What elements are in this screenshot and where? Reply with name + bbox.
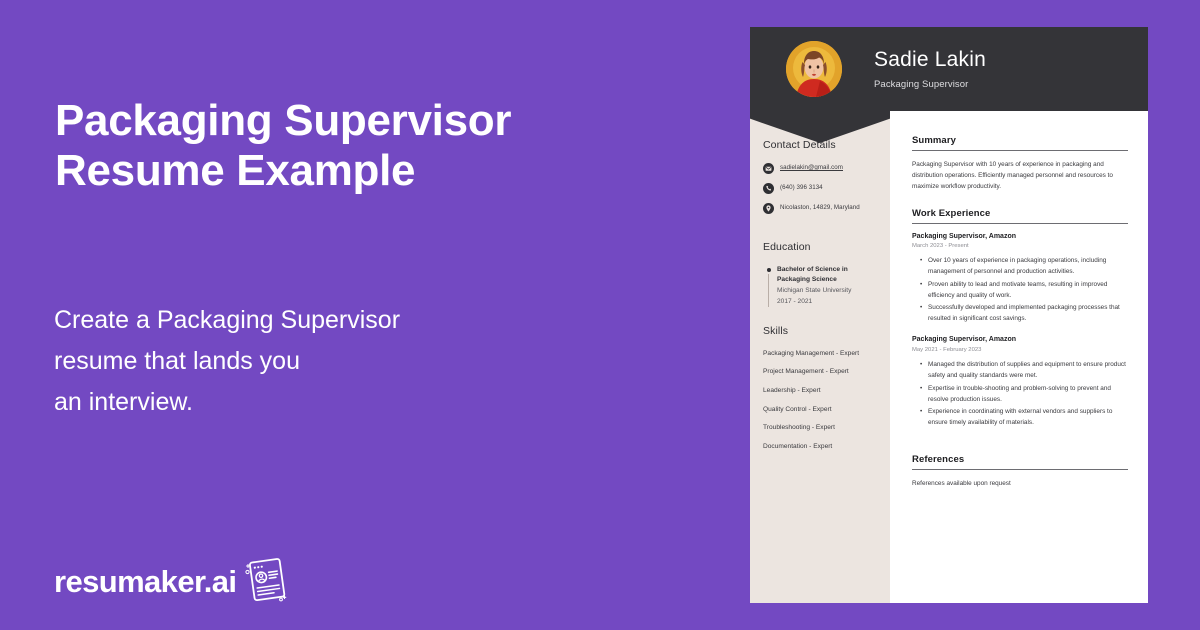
contact-email-value[interactable]: sadielakin@gmail.com xyxy=(780,164,843,172)
skill-item: Documentation - Expert xyxy=(763,442,876,452)
main-spacer-1 xyxy=(912,193,1128,208)
education-text: Bachelor of Science in Packaging Science… xyxy=(774,265,851,307)
logo-wordmark: resumaker.ai xyxy=(54,566,236,597)
summary-text: Packaging Supervisor with 10 years of ex… xyxy=(912,159,1128,193)
contact-item-email[interactable]: sadielakin@gmail.com xyxy=(763,163,876,174)
main-spacer-2 xyxy=(912,439,1128,454)
location-pin-icon xyxy=(763,203,774,214)
page-title: Packaging Supervisor Resume Example xyxy=(55,96,695,196)
references-heading: References xyxy=(912,454,1128,470)
work-experience-entry: Packaging Supervisor, Amazon March 2023 … xyxy=(912,232,1128,325)
timeline-dot-icon xyxy=(767,268,771,272)
timeline-marker xyxy=(763,265,774,307)
job-bullet-list: Over 10 years of experience in packaging… xyxy=(912,255,1128,324)
job-dates: March 2023 - Present xyxy=(912,242,1128,251)
education-dates: 2017 - 2021 xyxy=(777,297,851,307)
promo-subtitle: Create a Packaging Supervisor resume tha… xyxy=(54,300,524,423)
skills-heading: Skills xyxy=(763,325,876,337)
timeline-line xyxy=(768,274,769,307)
job-bullet: Over 10 years of experience in packaging… xyxy=(928,255,1128,277)
job-bullet: Managed the distribution of supplies and… xyxy=(928,359,1128,381)
contact-location-value: Nicolaston, 14829, Maryland xyxy=(780,204,860,212)
resumaker-logo[interactable]: resumaker.ai xyxy=(54,555,290,608)
sidebar-spacer-2 xyxy=(763,307,876,325)
contact-phone-value: (640) 396 3134 xyxy=(780,184,823,192)
resume-main-column: Summary Packaging Supervisor with 10 yea… xyxy=(890,111,1148,603)
summary-heading: Summary xyxy=(912,135,1128,151)
skill-item: Packaging Management - Expert xyxy=(763,349,876,359)
contact-item-location[interactable]: Nicolaston, 14829, Maryland xyxy=(763,203,876,214)
job-bullet-list: Managed the distribution of supplies and… xyxy=(912,359,1128,428)
phone-icon xyxy=(763,183,774,194)
contact-item-phone[interactable]: (640) 396 3134 xyxy=(763,183,876,194)
resume-document-icon xyxy=(238,555,290,608)
job-bullet: Experience in coordinating with external… xyxy=(928,406,1128,428)
job-bullet: Successfully developed and implemented p… xyxy=(928,302,1128,324)
resume-header: Sadie Lakin Packaging Supervisor xyxy=(750,27,1148,111)
education-entry: Bachelor of Science in Packaging Science… xyxy=(763,265,876,307)
candidate-role: Packaging Supervisor xyxy=(874,79,986,90)
job-dates: May 2021 - February 2023 xyxy=(912,346,1128,355)
education-heading: Education xyxy=(763,241,876,253)
resume-sidebar: Contact Details sadielakin@gmail.com xyxy=(750,111,890,603)
envelope-icon xyxy=(763,163,774,174)
skill-item: Quality Control - Expert xyxy=(763,405,876,415)
candidate-name: Sadie Lakin xyxy=(874,48,986,72)
education-institution: Michigan State University xyxy=(777,286,851,296)
skill-item: Troubleshooting - Expert xyxy=(763,423,876,433)
job-title: Packaging Supervisor, Amazon xyxy=(912,232,1128,242)
work-experience-heading: Work Experience xyxy=(912,208,1128,224)
resume-body: Contact Details sadielakin@gmail.com xyxy=(750,111,1148,603)
skill-item: Project Management - Expert xyxy=(763,367,876,377)
job-bullet: Proven ability to lead and motivate team… xyxy=(928,279,1128,301)
resume-preview-card[interactable]: Sadie Lakin Packaging Supervisor Contact… xyxy=(750,27,1148,603)
resume-identity: Sadie Lakin Packaging Supervisor xyxy=(874,48,986,90)
promo-panel: Packaging Supervisor Resume Example Crea… xyxy=(0,0,750,630)
skill-item: Leadership - Expert xyxy=(763,386,876,396)
work-experience-entry: Packaging Supervisor, Amazon May 2021 - … xyxy=(912,335,1128,428)
education-degree: Bachelor of Science in Packaging Science xyxy=(777,265,851,285)
job-bullet: Expertise in trouble-shooting and proble… xyxy=(928,383,1128,405)
job-title: Packaging Supervisor, Amazon xyxy=(912,335,1128,345)
avatar xyxy=(786,41,842,97)
references-text: References available upon request xyxy=(912,478,1128,489)
sidebar-spacer-1 xyxy=(763,223,876,241)
